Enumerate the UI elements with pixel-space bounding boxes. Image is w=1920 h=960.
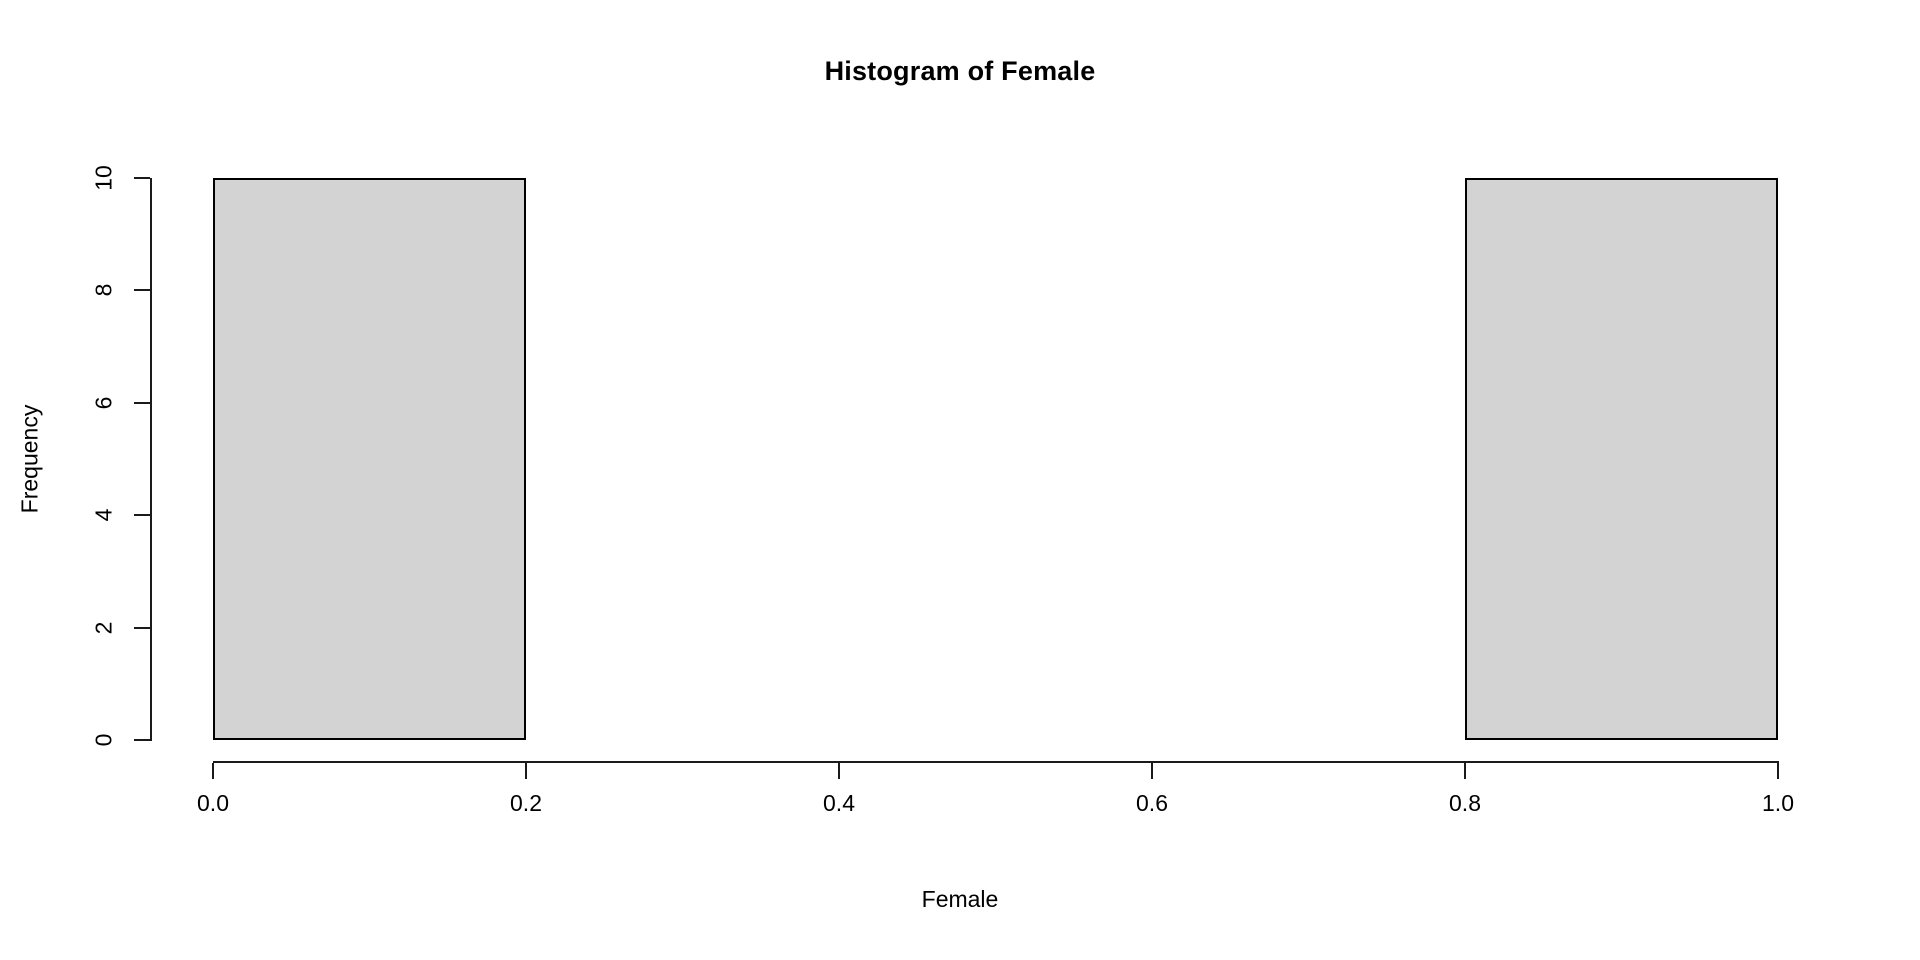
- plot-panel: [213, 178, 1778, 740]
- y-axis-tick-label: 2: [91, 621, 118, 634]
- x-axis-tick-label: 0.4: [823, 790, 855, 817]
- y-axis-tick-label: 8: [91, 284, 118, 297]
- x-axis-tick: [525, 763, 527, 779]
- histogram-bar: [213, 178, 526, 740]
- x-axis-title: Female: [0, 886, 1920, 913]
- x-axis-tick: [838, 763, 840, 779]
- y-axis-line: [150, 178, 152, 741]
- x-axis-tick-label: 0.2: [510, 790, 542, 817]
- y-axis-tick: [134, 627, 150, 629]
- x-axis-tick: [1464, 763, 1466, 779]
- x-axis-tick: [1151, 763, 1153, 779]
- y-axis-title: Frequency: [17, 405, 44, 514]
- y-axis-tick: [134, 402, 150, 404]
- y-axis-tick: [134, 177, 150, 179]
- y-axis-tick: [134, 739, 150, 741]
- x-axis-tick-label: 0.8: [1449, 790, 1481, 817]
- x-axis-tick-label: 0.6: [1136, 790, 1168, 817]
- x-axis-tick: [1777, 763, 1779, 779]
- x-axis-line: [213, 761, 1779, 763]
- y-axis-tick: [134, 289, 150, 291]
- y-axis-tick-label: 10: [91, 165, 118, 191]
- y-axis-tick-label: 4: [91, 509, 118, 522]
- x-axis-tick: [212, 763, 214, 779]
- x-axis-tick-label: 1.0: [1762, 790, 1794, 817]
- histogram-plot: Histogram of Female 0246810 Frequency 0.…: [0, 0, 1920, 960]
- histogram-bar: [1465, 178, 1778, 740]
- y-axis-tick-label: 6: [91, 396, 118, 409]
- x-axis-tick-label: 0.0: [197, 790, 229, 817]
- y-axis-tick: [134, 514, 150, 516]
- y-axis-tick-label: 0: [91, 734, 118, 747]
- chart-title: Histogram of Female: [0, 56, 1920, 87]
